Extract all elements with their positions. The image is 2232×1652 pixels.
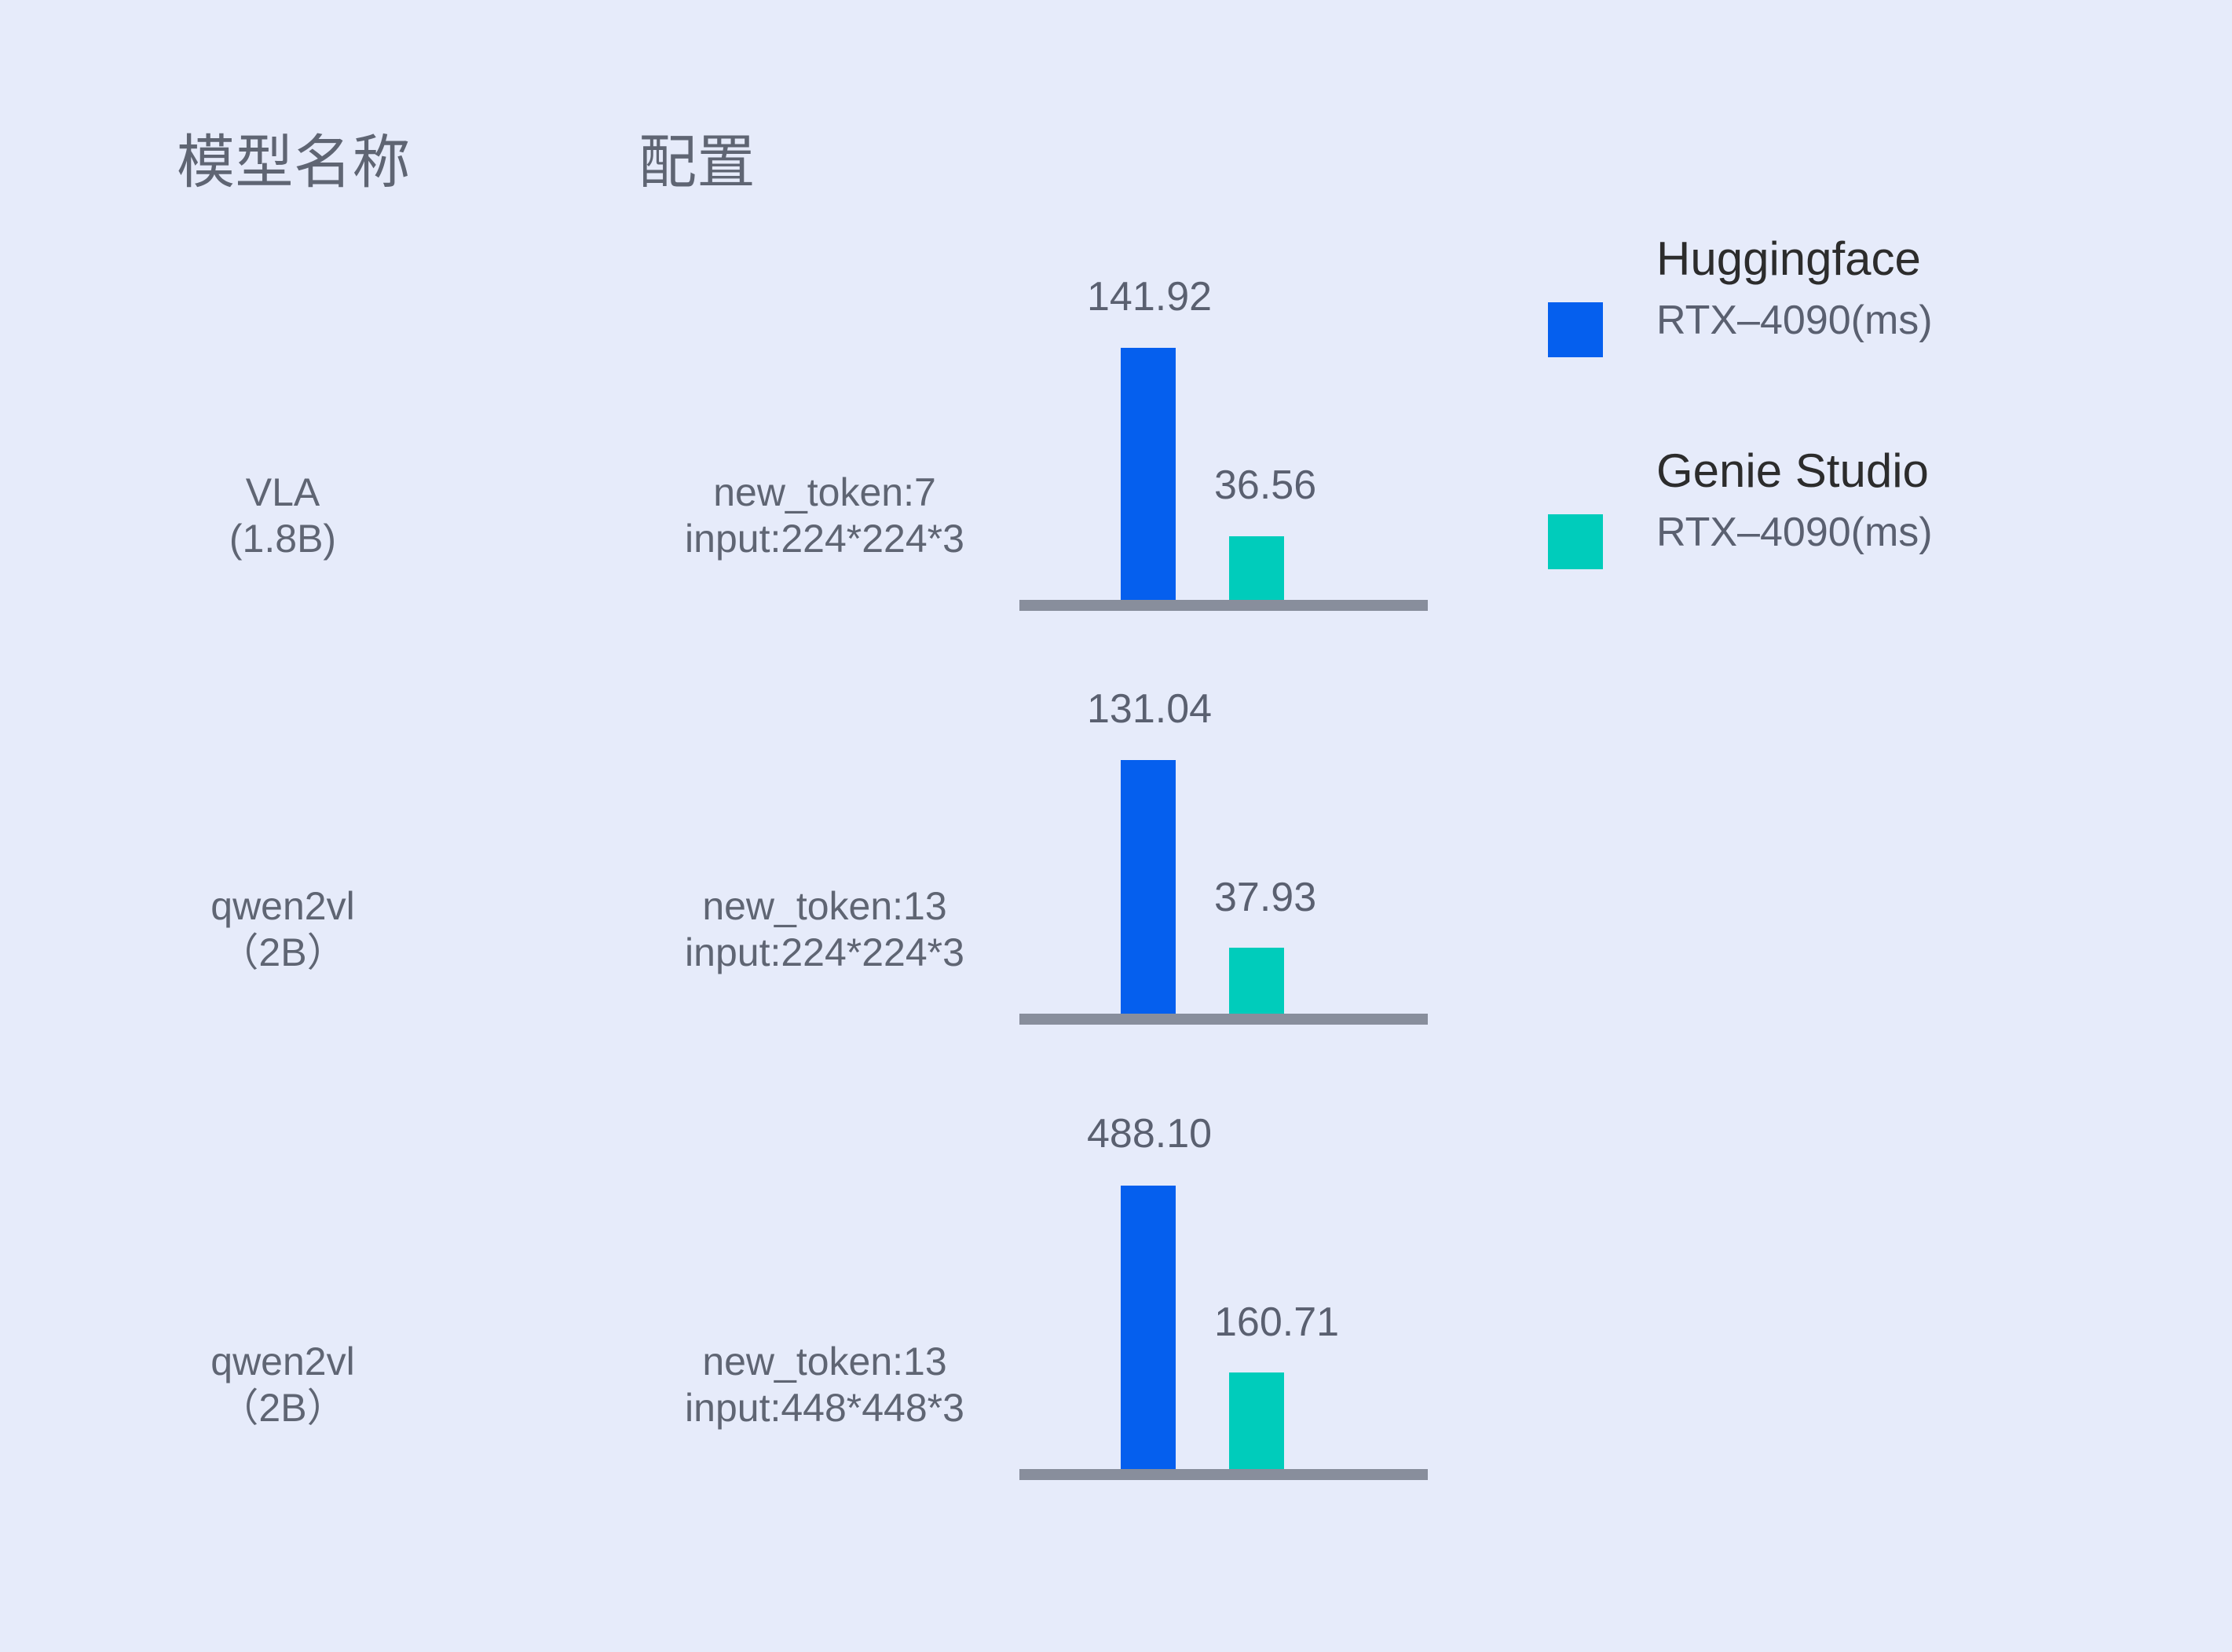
cell-model-name: qwen2vl （2B） — [126, 1339, 440, 1431]
chart-row: qwen2vl （2B） new_token:13 input:224*224*… — [0, 679, 2232, 1040]
chart-row: qwen2vl （2B） new_token:13 input:448*448*… — [0, 1099, 2232, 1492]
bar-value-label-huggingface: 131.04 — [1087, 689, 1212, 729]
column-header-row: 模型名称 配置 — [0, 124, 2232, 218]
cell-model-name: qwen2vl （2B） — [126, 883, 440, 976]
model-name-line-2: （2B） — [126, 1385, 440, 1431]
bar-genie-studio — [1229, 1372, 1284, 1472]
model-name-line-1: qwen2vl — [126, 1339, 440, 1385]
legend-entry-genie-studio: Genie Studio RTX–4090(ms) — [1539, 448, 2183, 605]
blue-square-swatch-icon — [1548, 302, 1603, 357]
legend-title: Genie Studio — [1656, 448, 2175, 495]
legend-subtitle: RTX–4090(ms) — [1656, 512, 2175, 553]
axis-baseline — [1019, 600, 1428, 611]
legend-text-block: Genie Studio RTX–4090(ms) — [1656, 448, 2175, 553]
cell-model-name: VLA (1.8B) — [126, 470, 440, 562]
bar-plot-panel: 488.10 160.71 — [1019, 1099, 1428, 1492]
legend-entry-huggingface: Huggingface RTX–4090(ms) — [1539, 236, 2183, 393]
bar-value-label-genie-studio: 37.93 — [1214, 877, 1316, 918]
bar-plot-panel: 131.04 37.93 — [1019, 679, 1428, 1040]
legend-text-block: Huggingface RTX–4090(ms) — [1656, 236, 2175, 341]
teal-square-swatch-icon — [1548, 514, 1603, 569]
axis-baseline — [1019, 1014, 1428, 1025]
column-header-config: 配置 — [638, 133, 756, 192]
bar-huggingface — [1121, 1186, 1176, 1480]
model-name-line-2: （2B） — [126, 930, 440, 976]
model-name-line-1: VLA — [126, 470, 440, 516]
bar-genie-studio — [1229, 536, 1284, 603]
bar-value-label-huggingface: 141.92 — [1087, 276, 1212, 317]
bar-plot-panel: 141.92 36.56 — [1019, 259, 1428, 620]
legend-subtitle: RTX–4090(ms) — [1656, 300, 2175, 341]
model-name-line-1: qwen2vl — [126, 883, 440, 930]
bar-huggingface — [1121, 760, 1176, 1017]
column-header-model-name: 模型名称 — [177, 133, 411, 192]
model-name-line-2: (1.8B) — [126, 516, 440, 562]
bar-value-label-genie-studio: 36.56 — [1214, 465, 1316, 506]
axis-baseline — [1019, 1469, 1428, 1480]
legend-title: Huggingface — [1656, 236, 2175, 283]
bar-value-label-genie-studio: 160.71 — [1214, 1302, 1339, 1343]
bar-genie-studio — [1229, 948, 1284, 1017]
bar-value-label-huggingface: 488.10 — [1087, 1113, 1212, 1154]
bar-huggingface — [1121, 348, 1176, 603]
